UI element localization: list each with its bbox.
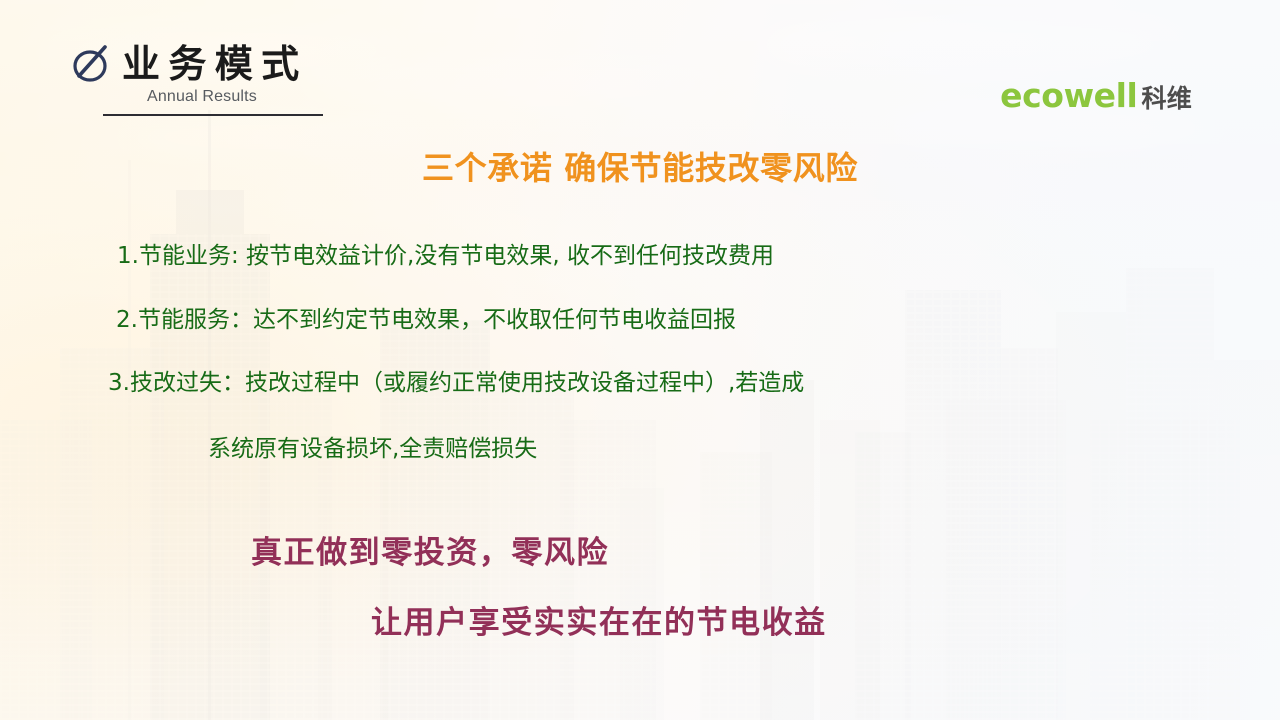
promise-item-1: 1.节能业务: 按节电效益计价,没有节电效果, 收不到任何技改费用 [117,236,774,270]
closing-line-1: 真正做到零投资，零风险 [251,527,609,572]
slashed-circle-icon [70,40,114,86]
brand-logo: ecowell 科维 [1000,76,1192,115]
brand-name-en: ecowell [1000,76,1137,115]
slide-root: 业务模式 Annual Results ecowell 科维 三个承诺 确保节能… [0,0,1280,720]
promise-item-2: 2.节能服务：达不到约定节电效果，不收取任何节电收益回报 [116,300,736,334]
header-divider [103,114,323,116]
closing-line-2: 让用户享受实实在在的节电收益 [371,597,827,642]
brand-name-cn: 科维 [1141,79,1192,115]
content-headline: 三个承诺 确保节能技改零风险 [0,143,1280,189]
page-subtitle: Annual Results [147,88,257,106]
promise-item-3: 3.技改过失：技改过程中（或履约正常使用技改设备过程中）,若造成 [108,363,804,397]
page-title: 业务模式 [122,33,307,88]
promise-item-3-continued: 系统原有设备损坏,全责赔偿损失 [208,429,537,463]
